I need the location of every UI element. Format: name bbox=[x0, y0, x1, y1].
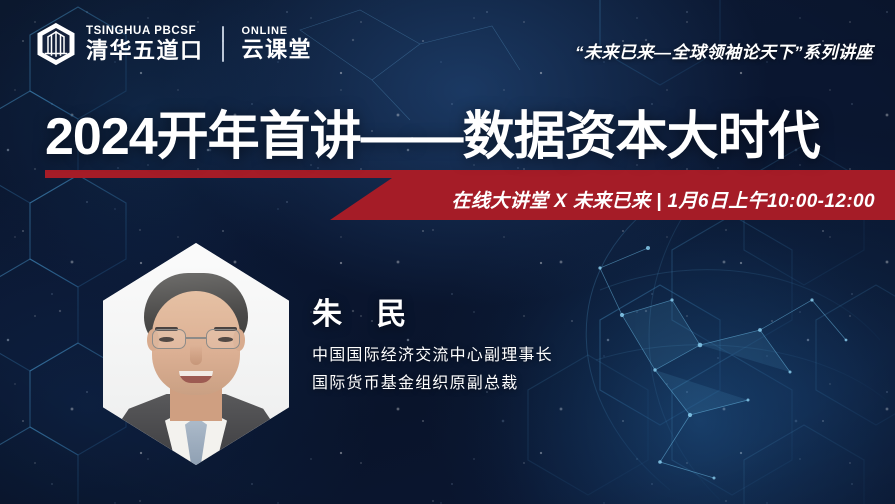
logo-divider bbox=[222, 26, 224, 62]
event-info-text: 在线大讲堂 X 未来已来 | 1月6日上午10:00-12:00 bbox=[451, 186, 875, 213]
speaker-portrait-frame bbox=[103, 243, 289, 465]
series-label: “未来已来—全球领袖论天下”系列讲座 bbox=[575, 38, 873, 63]
speaker-title-1: 中国国际经济交流中心副理事长 bbox=[312, 344, 553, 369]
speaker-title-2: 国际货币基金组织原副总裁 bbox=[312, 372, 553, 397]
brand-name-cn: 清华五道口 bbox=[86, 39, 204, 62]
speaker-info-block: 朱 民 中国国际经济交流中心副理事长 国际货币基金组织原副总裁 bbox=[312, 298, 553, 397]
brand-secondary-words: ONLINE 云课堂 bbox=[242, 26, 313, 61]
title-underline-rule bbox=[45, 170, 895, 178]
speaker-portrait-zhu-min bbox=[103, 243, 289, 465]
brand-logo-lockup[interactable]: TSINGHUA PBCSF 清华五道口 ONLINE 云课堂 bbox=[36, 22, 312, 66]
brand-primary-words: TSINGHUA PBCSF 清华五道口 bbox=[86, 26, 204, 62]
platform-name-cn: 云课堂 bbox=[242, 38, 313, 61]
page-title: 2024开年首讲——数据资本大时代 bbox=[45, 109, 820, 165]
tsinghua-pbcsf-hexagon-logo-icon bbox=[36, 22, 76, 66]
platform-name-en: ONLINE bbox=[242, 26, 313, 37]
event-info-banner: 在线大讲堂 X 未来已来 | 1月6日上午10:00-12:00 bbox=[330, 178, 895, 220]
brand-name-en: TSINGHUA PBCSF bbox=[86, 26, 204, 38]
speaker-name: 朱 民 bbox=[312, 298, 553, 333]
lecture-poster: TSINGHUA PBCSF 清华五道口 ONLINE 云课堂 “未来已来—全球… bbox=[0, 0, 895, 504]
